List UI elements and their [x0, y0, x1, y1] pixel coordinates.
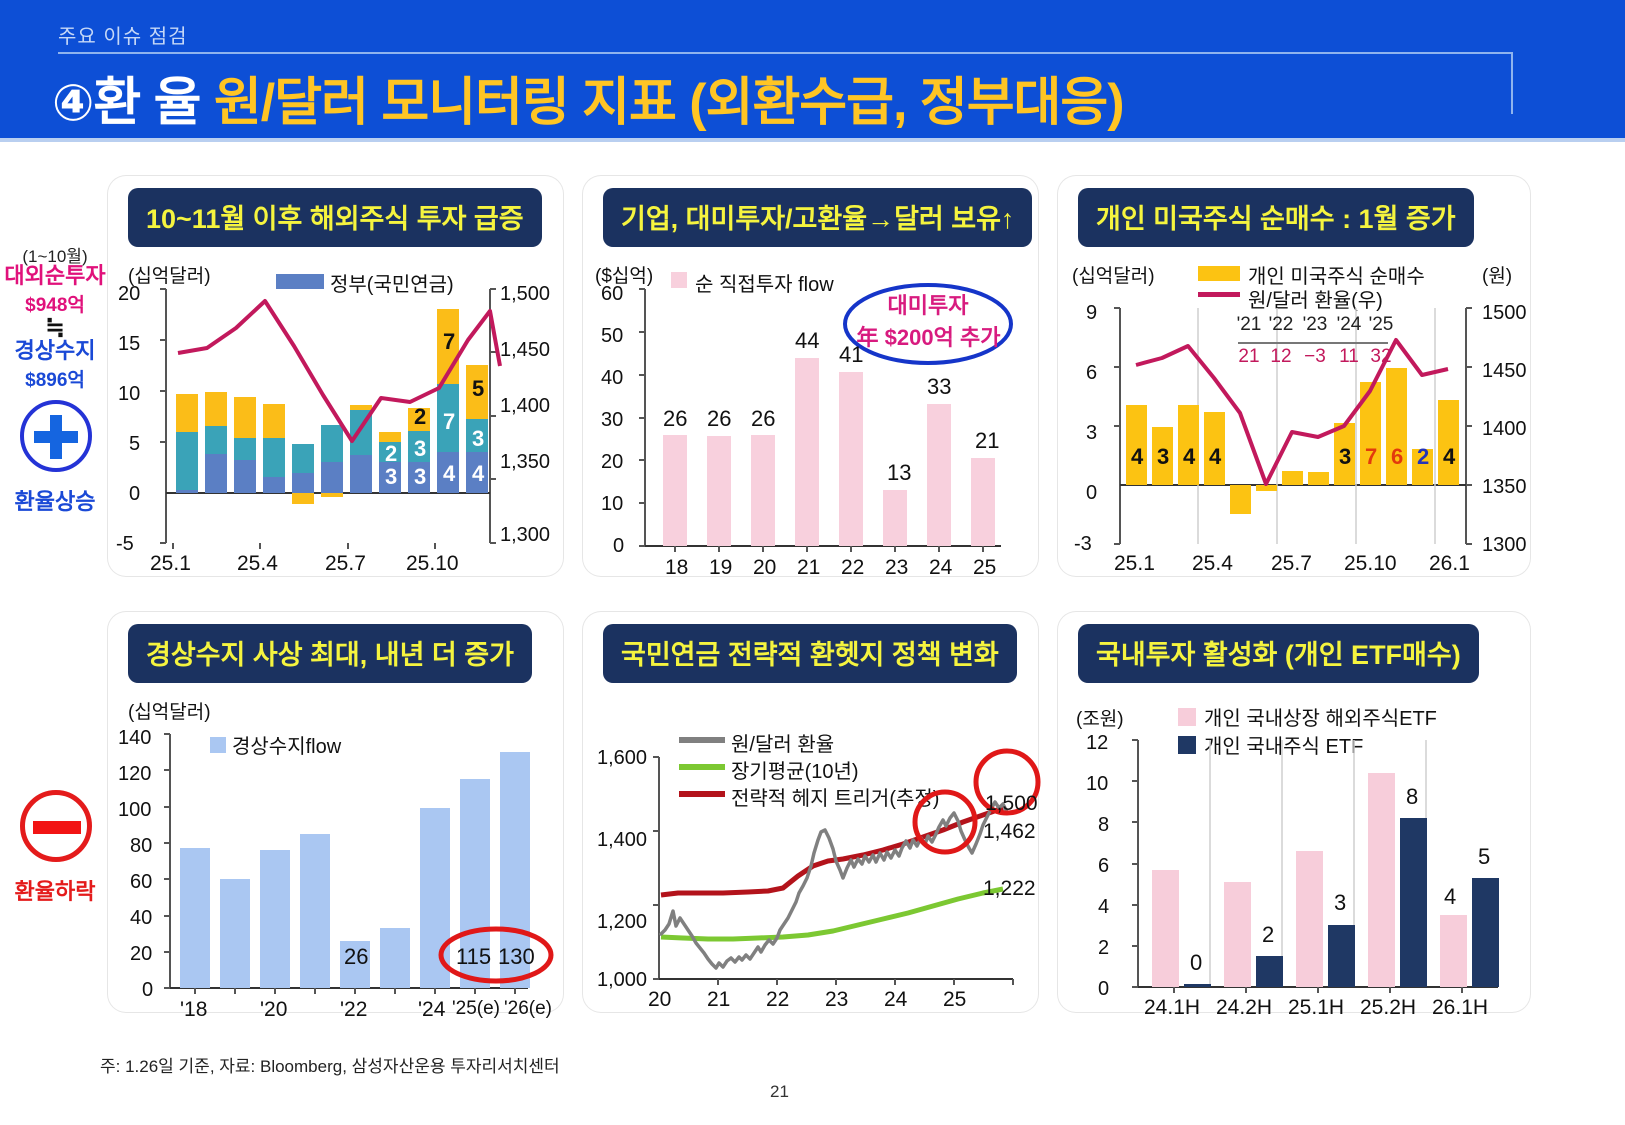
- bar-value-label: 26: [663, 406, 687, 432]
- bar-value-label: 26: [344, 944, 368, 970]
- panel-retail-us-stocks: 개인 미국주식 순매수 : 1월 증가 (십억달러) (원) 개인 미국주식 순…: [1058, 176, 1530, 576]
- bar-value-label: 115: [456, 944, 491, 970]
- x-tick: 24: [884, 988, 907, 1012]
- inset-table-header: '25: [1366, 314, 1396, 336]
- bar-value-label: 7: [1365, 444, 1377, 470]
- annotation-value-1500: 1,500: [985, 792, 1038, 816]
- slide-header: 주요 이슈 점검 ④환 율 원/달러 모니터링 지표 (외환수급, 정부대응): [0, 0, 1625, 140]
- bar-value-label: 4: [472, 461, 484, 487]
- section-number: ④: [52, 74, 93, 132]
- chart-overseas-equity-plot: [108, 176, 563, 576]
- inset-table-header: '22: [1266, 314, 1296, 336]
- header-kicker: 주요 이슈 점검: [58, 20, 188, 49]
- annotation-value-1222: 1,222: [983, 877, 1036, 901]
- x-tick: 25.10: [1344, 552, 1397, 576]
- bar-value-label: 7: [443, 409, 455, 435]
- x-tick: 21: [797, 556, 820, 580]
- x-tick: 25.4: [237, 552, 278, 576]
- x-tick: 25.1: [150, 552, 191, 576]
- bar-value-label: 130: [498, 944, 535, 970]
- x-tick: 23: [825, 988, 848, 1012]
- x-tick: 23: [885, 556, 908, 580]
- panel-nps-hedge: 국민연금 전략적 환헷지 정책 변화 원/달러 환율 장기평균(10년) 전략적…: [583, 612, 1038, 1012]
- chart-domestic-etf-plot: [1058, 612, 1530, 1012]
- bar-value-label: 6: [1391, 444, 1403, 470]
- bar-value-label: 4: [1131, 444, 1143, 470]
- x-tick: '20: [260, 998, 287, 1022]
- sidebar-approx-sign: ≒: [0, 316, 110, 340]
- x-tick: 22: [766, 988, 789, 1012]
- section-subtitle: 원/달러 모니터링 지표 (외환수급, 정부대응): [214, 74, 1124, 132]
- panel-direct-investment: 기업, 대미투자/고환율→달러 보유↑ ($십억) 순 직접투자 flow 60…: [583, 176, 1038, 576]
- sidebar-net-invest-label: 대외순투자: [0, 263, 110, 288]
- chart-current-account-plot: [108, 612, 563, 1012]
- x-tick: 25.7: [1271, 552, 1312, 576]
- bar-value-label: 0: [1190, 950, 1202, 976]
- x-tick: 22: [841, 556, 864, 580]
- annotation-line-1: 대미투자: [878, 288, 978, 320]
- sidebar-down-label: 환율하락: [0, 874, 110, 906]
- bar-value-label: 26: [751, 406, 775, 432]
- bar-value-label: 2: [385, 441, 397, 467]
- chart-direct-investment-plot: [583, 176, 1038, 576]
- header-divider-tick: [1511, 52, 1513, 114]
- bar-value-label: 4: [443, 461, 455, 487]
- inset-table-header: '24: [1334, 314, 1364, 336]
- x-tick: '25(e): [452, 998, 500, 1020]
- inset-table-header: '23: [1300, 314, 1330, 336]
- x-tick: 19: [709, 556, 732, 580]
- x-tick: 25.1H: [1288, 996, 1344, 1020]
- bar-value-label: 3: [414, 464, 426, 490]
- bar-value-label: 26: [707, 406, 731, 432]
- sidebar-up-label: 환율상승: [0, 484, 110, 516]
- page-number: 21: [770, 1082, 789, 1102]
- x-tick: 26.1: [1429, 552, 1470, 576]
- bar-value-label: 44: [795, 328, 819, 354]
- plus-icon: [20, 400, 92, 472]
- inset-table-value: 12: [1266, 346, 1296, 368]
- x-tick: 25.10: [406, 552, 459, 576]
- chart-retail-us-stocks-plot: [1058, 176, 1530, 576]
- x-tick: 24.2H: [1216, 996, 1272, 1020]
- header-bottom-rule: [0, 138, 1625, 142]
- x-tick: 20: [648, 988, 671, 1012]
- sidebar-current-account-value: $896억: [0, 365, 110, 392]
- minus-icon: [20, 790, 92, 862]
- x-tick: 24: [929, 556, 952, 580]
- x-tick: '24: [418, 998, 445, 1022]
- bar-value-label: 3: [385, 464, 397, 490]
- x-tick: 25: [943, 988, 966, 1012]
- annotation-value-1462: 1,462: [983, 820, 1036, 844]
- x-tick: 24.1H: [1144, 996, 1200, 1020]
- bar-value-label: 4: [1443, 444, 1455, 470]
- bar-value-label: 33: [927, 374, 951, 400]
- bar-value-label: 3: [472, 426, 484, 452]
- bar-value-label: 5: [472, 376, 484, 402]
- bar-value-label: 3: [1157, 444, 1169, 470]
- bar-value-label: 3: [1339, 444, 1351, 470]
- inset-table-value: 11: [1334, 346, 1364, 368]
- bar-value-label: 13: [887, 460, 911, 486]
- bar-value-label: 2: [1417, 444, 1429, 470]
- x-tick: 21: [707, 988, 730, 1012]
- x-tick: 25.2H: [1360, 996, 1416, 1020]
- bar-value-label: 3: [414, 436, 426, 462]
- annotation-line-2: 年 $200억 추가: [851, 320, 1006, 352]
- sidebar-current-account-label: 경상수지: [0, 338, 110, 363]
- x-tick: 18: [665, 556, 688, 580]
- x-tick: '22: [340, 998, 367, 1022]
- bar-value-label: 8: [1406, 784, 1418, 810]
- x-tick: 26.1H: [1432, 996, 1488, 1020]
- bar-value-label: 4: [1209, 444, 1221, 470]
- section-topic: 환 율: [93, 74, 200, 132]
- x-tick: 25.7: [325, 552, 366, 576]
- inset-table-value: 21: [1236, 346, 1262, 368]
- bar-value-label-pink: 4: [1444, 884, 1456, 910]
- x-tick: 25.4: [1192, 552, 1233, 576]
- inset-table-header: '21: [1236, 314, 1262, 336]
- footer-source-note: 주: 1.26일 기준, 자료: Bloomberg, 삼성자산운용 투자리서치…: [100, 1052, 560, 1077]
- panel-domestic-etf: 국내투자 활성화 (개인 ETF매수) (조원) 개인 국내상장 해외주식ETF…: [1058, 612, 1530, 1012]
- inset-table-value: 32: [1366, 346, 1396, 368]
- bar-value-label: 2: [414, 404, 426, 430]
- panel-overseas-equity: 10~11월 이후 해외주식 투자 급증 (십억달러) 정부(국민연금) 20 …: [108, 176, 563, 576]
- inset-table-value: −3: [1300, 346, 1330, 368]
- bar-value-label: 21: [975, 428, 999, 454]
- header-divider: [58, 52, 1513, 54]
- x-tick: '18: [180, 998, 207, 1022]
- x-tick: '26(e): [504, 998, 552, 1020]
- x-tick: 25.1: [1114, 552, 1155, 576]
- bar-value-label: 5: [1478, 844, 1490, 870]
- panel-current-account: 경상수지 사상 최대, 내년 더 증가 (십억달러) 경상수지flow 140 …: [108, 612, 563, 1012]
- page-title: ④환 율 원/달러 모니터링 지표 (외환수급, 정부대응): [52, 60, 1124, 135]
- sidebar-net-invest-value: $948억: [0, 290, 110, 317]
- bar-value-label: 2: [1262, 922, 1274, 948]
- bar-value-label: 3: [1334, 890, 1346, 916]
- x-tick: 25: [973, 556, 996, 580]
- bar-value-label: 4: [1183, 444, 1195, 470]
- chart-nps-hedge-plot: [583, 612, 1038, 1012]
- bar-value-label: 7: [443, 329, 455, 355]
- x-tick: 20: [753, 556, 776, 580]
